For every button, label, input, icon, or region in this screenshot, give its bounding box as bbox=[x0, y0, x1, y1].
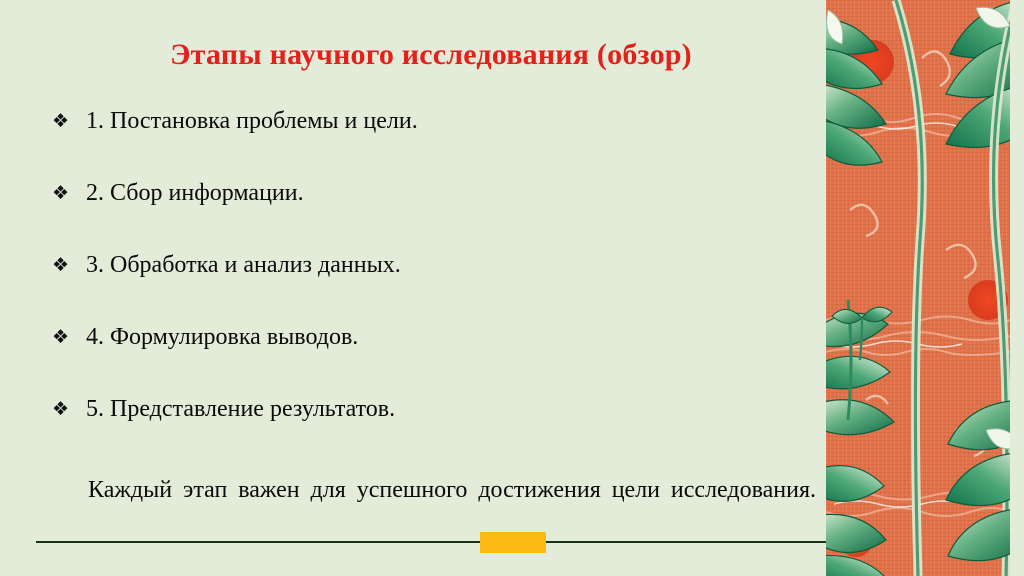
diamond-bullet-icon: ❖ bbox=[52, 106, 86, 136]
deco-right-margin bbox=[1010, 0, 1024, 576]
footer-divider bbox=[36, 541, 826, 543]
list-item: ❖ 1. Постановка проблемы и цели. bbox=[52, 106, 812, 178]
list-item: ❖ 5. Представление результатов. bbox=[52, 394, 812, 466]
tropical-pattern-svg bbox=[826, 0, 1010, 576]
diamond-bullet-icon: ❖ bbox=[52, 322, 86, 352]
list-item: ❖ 2. Сбор информации. bbox=[52, 178, 812, 250]
diamond-bullet-icon: ❖ bbox=[52, 250, 86, 280]
diamond-bullet-icon: ❖ bbox=[52, 394, 86, 424]
list-item-label: 4. Формулировка выводов. bbox=[86, 322, 812, 352]
tropical-pattern-image bbox=[826, 0, 1010, 576]
list-item-label: 1. Постановка проблемы и цели. bbox=[86, 106, 812, 136]
list-item-label: 3. Обработка и анализ данных. bbox=[86, 250, 812, 280]
diamond-bullet-icon: ❖ bbox=[52, 178, 86, 208]
list-item-label: 5. Представление результатов. bbox=[86, 394, 812, 424]
research-stages-list: ❖ 1. Постановка проблемы и цели. ❖ 2. Сб… bbox=[52, 106, 812, 466]
list-item: ❖ 3. Обработка и анализ данных. bbox=[52, 250, 812, 322]
closing-paragraph: Каждый этап важен для успешного достижен… bbox=[36, 472, 816, 546]
list-item-label: 2. Сбор информации. bbox=[86, 178, 812, 208]
presentation-slide: Этапы научного исследования (обзор) ❖ 1.… bbox=[0, 0, 1024, 576]
page-title: Этапы научного исследования (обзор) bbox=[36, 36, 826, 74]
list-item: ❖ 4. Формулировка выводов. bbox=[52, 322, 812, 394]
footer-accent-block bbox=[480, 532, 546, 553]
